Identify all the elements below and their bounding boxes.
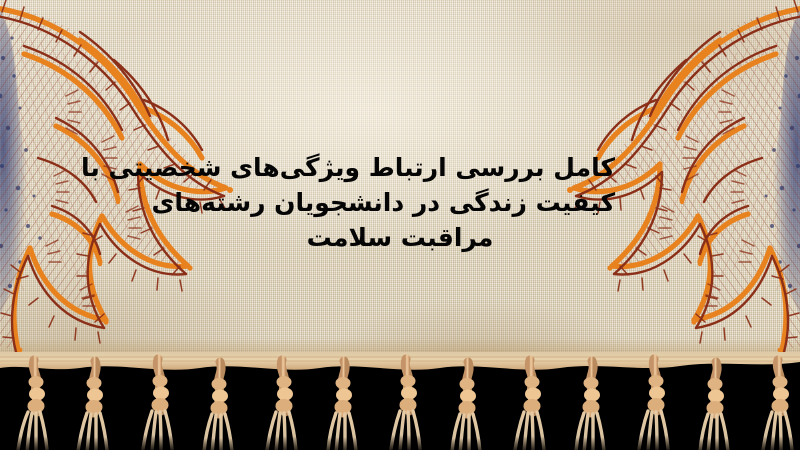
slide-canvas: کامل بررسی ارتباط ویژگی‌های شخصیتی با کی…	[0, 0, 800, 450]
title-line-3: مراقبت سلامت	[185, 220, 615, 255]
slide-title: کامل بررسی ارتباط ویژگی‌های شخصیتی با کی…	[185, 150, 615, 255]
title-line-1: کامل بررسی ارتباط ویژگی‌های شخصیتی با	[185, 150, 615, 185]
tassel-fringe	[0, 352, 800, 450]
title-line-2: کیفیت زندگی در دانشجویان رشته‌های	[185, 185, 615, 220]
